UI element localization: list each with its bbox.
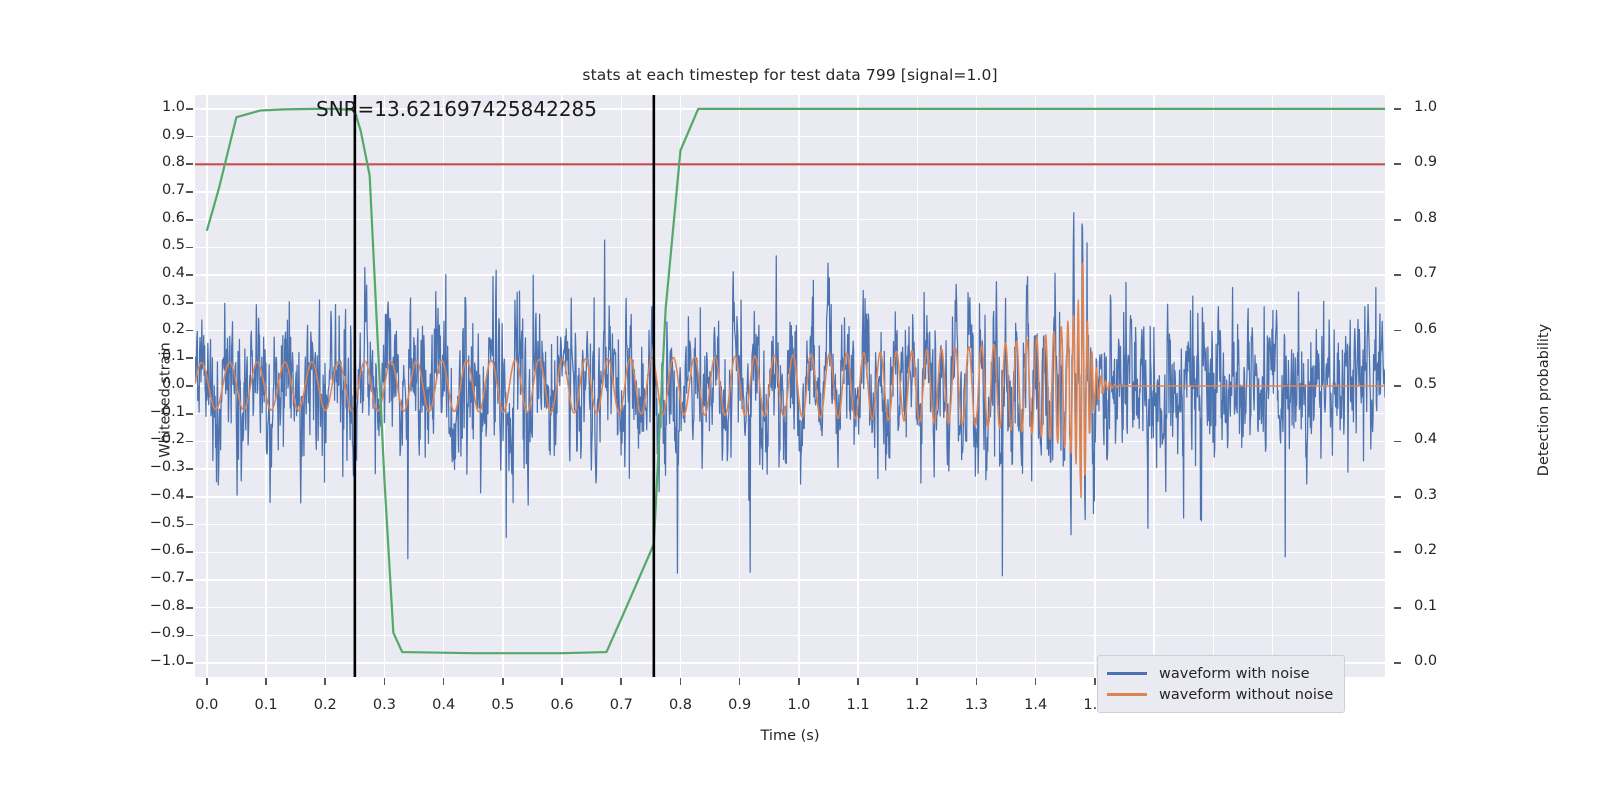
x-tick-mark bbox=[206, 678, 208, 685]
y-tick-mark-right bbox=[1394, 108, 1401, 110]
y-tick-label-left: −0.6 bbox=[129, 542, 185, 558]
snr-annotation: SNR=13.621697425842285 bbox=[316, 97, 597, 121]
y-tick-mark-right bbox=[1394, 496, 1401, 498]
y-tick-mark-right bbox=[1394, 662, 1401, 664]
y-tick-mark-right bbox=[1394, 219, 1401, 221]
y-tick-label-right: 0.1 bbox=[1414, 598, 1474, 614]
y-tick-mark-right bbox=[1394, 441, 1401, 443]
x-tick-mark bbox=[620, 678, 622, 685]
y-tick-mark-left bbox=[186, 330, 193, 332]
y-tick-mark-right bbox=[1394, 274, 1401, 276]
y-tick-label-right: 0.4 bbox=[1414, 431, 1474, 447]
y-tick-label-left: −0.3 bbox=[129, 459, 185, 475]
x-tick-mark bbox=[384, 678, 386, 685]
x-tick-label: 0.4 bbox=[414, 697, 474, 713]
x-tick-label: 1.0 bbox=[769, 697, 829, 713]
y-tick-label-right: 0.2 bbox=[1414, 542, 1474, 558]
x-tick-mark bbox=[561, 678, 563, 685]
y-tick-mark-left bbox=[186, 551, 193, 553]
legend-label: waveform without noise bbox=[1159, 687, 1333, 703]
x-tick-mark bbox=[324, 678, 326, 685]
y-tick-label-right: 0.8 bbox=[1414, 210, 1474, 226]
y-tick-label-left: −0.7 bbox=[129, 570, 185, 586]
x-tick-label: 0.1 bbox=[236, 697, 296, 713]
y-tick-label-left: −0.9 bbox=[129, 625, 185, 641]
y-tick-mark-right bbox=[1394, 607, 1401, 609]
x-axis-label: Time (s) bbox=[195, 728, 1385, 744]
y-tick-mark-left bbox=[186, 413, 193, 415]
y-tick-mark-left bbox=[186, 219, 193, 221]
y-tick-label-left: −1.0 bbox=[129, 653, 185, 669]
x-tick-label: 0.7 bbox=[591, 697, 651, 713]
data-series-layer bbox=[195, 95, 1385, 677]
y-tick-mark-left bbox=[186, 163, 193, 165]
x-tick-label: 0.9 bbox=[710, 697, 770, 713]
y-tick-mark-left bbox=[186, 191, 193, 193]
y-tick-label-left: 0.9 bbox=[129, 127, 185, 143]
y-tick-label-left: −0.8 bbox=[129, 598, 185, 614]
chart-title: stats at each timestep for test data 799… bbox=[195, 66, 1385, 84]
x-tick-label: 1.3 bbox=[946, 697, 1006, 713]
y-tick-label-left: 0.4 bbox=[129, 265, 185, 281]
x-tick-label: 0.2 bbox=[295, 697, 355, 713]
y-tick-label-right: 0.6 bbox=[1414, 321, 1474, 337]
x-tick-label: 0.3 bbox=[354, 697, 414, 713]
y-tick-mark-left bbox=[186, 441, 193, 443]
y-tick-mark-left bbox=[186, 108, 193, 110]
y-tick-mark-left bbox=[186, 357, 193, 359]
y-tick-mark-left bbox=[186, 274, 193, 276]
y-tick-label-left: 0.2 bbox=[129, 321, 185, 337]
x-tick-label: 1.1 bbox=[828, 697, 888, 713]
y-tick-mark-left bbox=[186, 579, 193, 581]
y-tick-mark-left bbox=[186, 136, 193, 138]
y-tick-mark-right bbox=[1394, 330, 1401, 332]
y-tick-label-right: 0.0 bbox=[1414, 653, 1474, 669]
y-tick-mark-left bbox=[186, 662, 193, 664]
y-tick-label-right: 0.3 bbox=[1414, 487, 1474, 503]
x-tick-mark bbox=[680, 678, 682, 685]
y-tick-label-left: 0.3 bbox=[129, 293, 185, 309]
y-tick-mark-left bbox=[186, 607, 193, 609]
x-tick-label: 0.6 bbox=[532, 697, 592, 713]
y-tick-label-left: 0.7 bbox=[129, 182, 185, 198]
y-tick-mark-left bbox=[186, 302, 193, 304]
y-axis-right-label: Detection probability bbox=[1536, 324, 1552, 476]
x-tick-mark bbox=[1094, 678, 1096, 685]
x-tick-mark bbox=[739, 678, 741, 685]
x-tick-mark bbox=[798, 678, 800, 685]
y-tick-mark-left bbox=[186, 524, 193, 526]
plot-area bbox=[195, 95, 1385, 677]
x-tick-label: 0.0 bbox=[177, 697, 237, 713]
y-tick-label-right: 1.0 bbox=[1414, 99, 1474, 115]
y-tick-mark-right bbox=[1394, 551, 1401, 553]
x-tick-label: 0.5 bbox=[473, 697, 533, 713]
y-tick-label-left: 0.6 bbox=[129, 210, 185, 226]
legend-item: waveform without noise bbox=[1107, 684, 1333, 705]
x-tick-label: 1.4 bbox=[1006, 697, 1066, 713]
y-tick-label-left: 0.8 bbox=[129, 154, 185, 170]
y-tick-label-left: −0.5 bbox=[129, 515, 185, 531]
y-tick-mark-left bbox=[186, 496, 193, 498]
y-tick-mark-left bbox=[186, 635, 193, 637]
x-tick-mark bbox=[857, 678, 859, 685]
legend-color-swatch bbox=[1107, 672, 1147, 675]
x-tick-label: 1.2 bbox=[887, 697, 947, 713]
x-tick-mark bbox=[502, 678, 504, 685]
x-tick-mark bbox=[1035, 678, 1037, 685]
legend: waveform with noisewaveform without nois… bbox=[1097, 655, 1345, 713]
legend-color-swatch bbox=[1107, 693, 1147, 696]
y-tick-mark-right bbox=[1394, 385, 1401, 387]
y-tick-label-left: 1.0 bbox=[129, 99, 185, 115]
y-axis-left-label: Whitened strain bbox=[158, 342, 174, 457]
x-tick-mark bbox=[976, 678, 978, 685]
y-tick-mark-left bbox=[186, 247, 193, 249]
y-tick-label-right: 0.9 bbox=[1414, 154, 1474, 170]
y-tick-label-left: 0.5 bbox=[129, 237, 185, 253]
legend-item: waveform with noise bbox=[1107, 663, 1333, 684]
y-tick-mark-right bbox=[1394, 163, 1401, 165]
x-tick-mark bbox=[916, 678, 918, 685]
x-tick-mark bbox=[443, 678, 445, 685]
x-tick-mark bbox=[265, 678, 267, 685]
figure: stats at each timestep for test data 799… bbox=[0, 0, 1600, 800]
x-tick-label: 0.8 bbox=[650, 697, 710, 713]
y-tick-mark-left bbox=[186, 385, 193, 387]
y-tick-mark-left bbox=[186, 468, 193, 470]
y-tick-label-right: 0.7 bbox=[1414, 265, 1474, 281]
y-tick-label-right: 0.5 bbox=[1414, 376, 1474, 392]
legend-label: waveform with noise bbox=[1159, 666, 1310, 682]
y-tick-label-left: −0.4 bbox=[129, 487, 185, 503]
